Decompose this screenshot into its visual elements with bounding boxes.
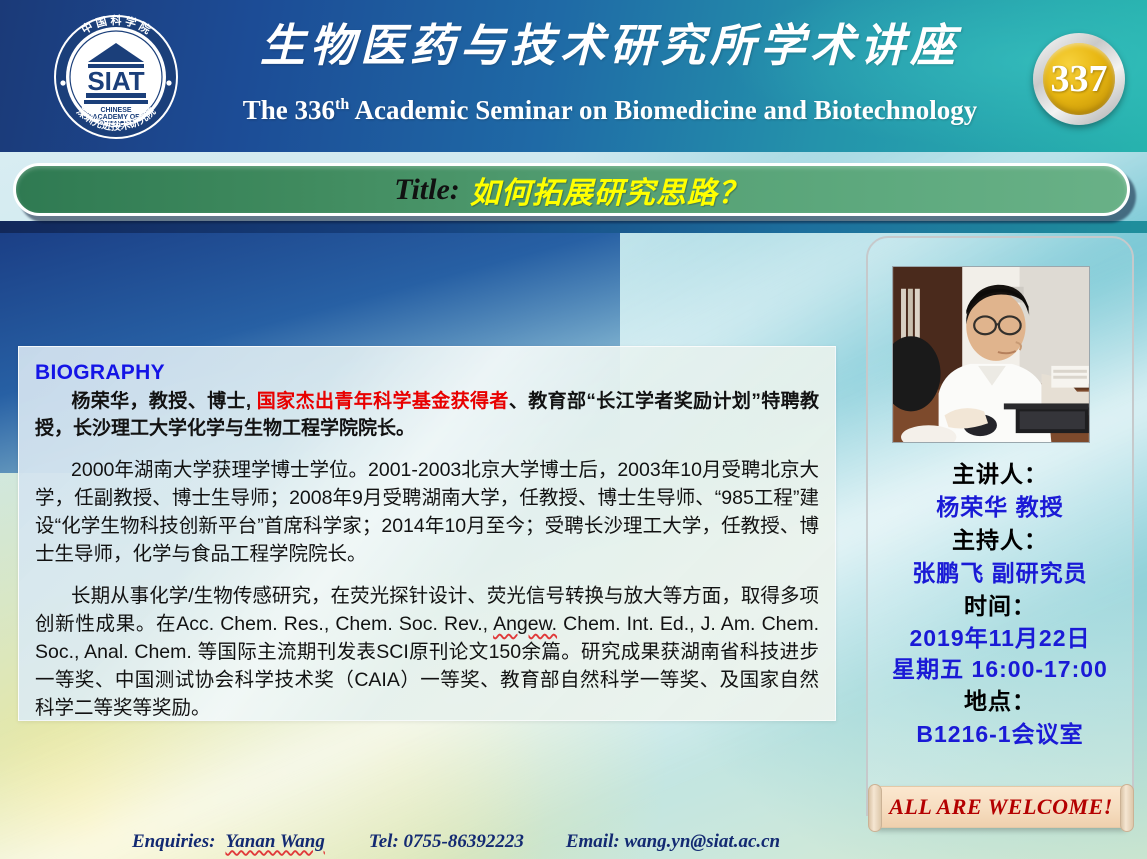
seminar-title-en-rest: Academic Seminar on Biomedicine and Biot…	[349, 95, 977, 125]
welcome-text: ALL ARE WELCOME!	[889, 794, 1113, 820]
seminar-poster: SIAT CHINESE ACADEMY OF SCIENCES 中 国 科 学…	[0, 0, 1147, 859]
enquiries-label: Enquiries:	[132, 831, 215, 853]
venue-value: B1216-1会议室	[868, 718, 1132, 751]
bio-p1-part-a: 杨荣华，教授、博士,	[71, 391, 257, 412]
seminar-title-en: The 336th Academic Seminar on Biomedicin…	[215, 85, 1005, 130]
bio-p3-spellcheck-word: Angew.	[493, 613, 557, 635]
details-text-group: 主讲人： 杨荣华 教授 主持人： 张鹏飞 副研究员 时间： 2019年11月22…	[868, 458, 1132, 751]
biography-heading: BIOGRAPHY	[35, 360, 819, 386]
time-range: 星期五 16:00-17:00	[868, 654, 1132, 685]
title-banner-text: 如何拓展研究思路？	[470, 168, 749, 212]
speaker-name: 杨荣华 教授	[868, 491, 1132, 524]
seminar-title-cn: 生物医药与技术研究所学术讲座	[215, 14, 1005, 78]
svg-text:SIAT: SIAT	[87, 66, 144, 96]
details-panel: 主讲人： 杨荣华 教授 主持人： 张鹏飞 副研究员 时间： 2019年11月22…	[866, 236, 1134, 816]
biography-panel: BIOGRAPHY 杨荣华，教授、博士, 国家杰出青年科学基金获得者、教育部“长…	[18, 346, 836, 721]
host-label: 主持人：	[868, 524, 1132, 557]
bio-p1-highlight: 国家杰出青年科学基金获得者	[257, 391, 509, 412]
seminar-number-badge: 337	[1033, 33, 1125, 125]
contact-email: Email: wang.yn@siat.ac.cn	[566, 831, 780, 853]
badge-number: 337	[1051, 60, 1108, 98]
poster-footer: Enquiries: Yanan Wang Tel: 0755-86392223…	[0, 824, 860, 859]
seminar-title-en-ordinal: th	[335, 96, 349, 113]
venue-label: 地点：	[868, 685, 1132, 718]
header-title-group: 生物医药与技术研究所学术讲座 The 336th Academic Semina…	[215, 14, 1005, 130]
biography-paragraph-2: 2000年湖南大学获理学博士学位。2001-2003北京大学博士后，2003年1…	[35, 456, 819, 568]
time-date: 2019年11月22日	[868, 623, 1132, 654]
svg-text:CHINESE: CHINESE	[100, 107, 131, 114]
bio-p2-text: 2000年湖南大学获理学博士学位。2001-2003北京大学博士后，2003年1…	[35, 459, 819, 565]
enquiries-contact-name: Yanan Wang	[225, 831, 324, 853]
host-name: 张鹏飞 副研究员	[868, 557, 1132, 590]
title-banner: Title: 如何拓展研究思路？	[13, 163, 1130, 216]
biography-paragraph-1: 杨荣华，教授、博士, 国家杰出青年科学基金获得者、教育部“长江学者奖励计划”特聘…	[35, 388, 819, 442]
scroll-roll-left-icon	[868, 784, 882, 832]
time-label: 时间：	[868, 590, 1132, 623]
title-banner-label: Title:	[394, 173, 460, 207]
poster-header: SIAT CHINESE ACADEMY OF SCIENCES 中 国 科 学…	[0, 0, 1147, 152]
contact-telephone: Tel: 0755-86392223	[369, 831, 524, 853]
biography-paragraph-3: 长期从事化学/生物传感研究，在荧光探针设计、荧光信号转换与放大等方面，取得多项创…	[35, 582, 819, 722]
speaker-photo	[892, 266, 1090, 443]
welcome-banner: ALL ARE WELCOME!	[876, 786, 1126, 828]
title-banner-wrap: Title: 如何拓展研究思路？	[13, 163, 1136, 221]
welcome-banner-wrap: ALL ARE WELCOME!	[868, 786, 1134, 834]
scroll-roll-right-icon	[1120, 784, 1134, 832]
siat-logo: SIAT CHINESE ACADEMY OF SCIENCES 中 国 科 学…	[40, 13, 193, 141]
speaker-label: 主讲人：	[868, 458, 1132, 491]
seminar-title-en-prefix: The 336	[243, 95, 335, 125]
badge-inner-disc: 337	[1043, 43, 1115, 115]
